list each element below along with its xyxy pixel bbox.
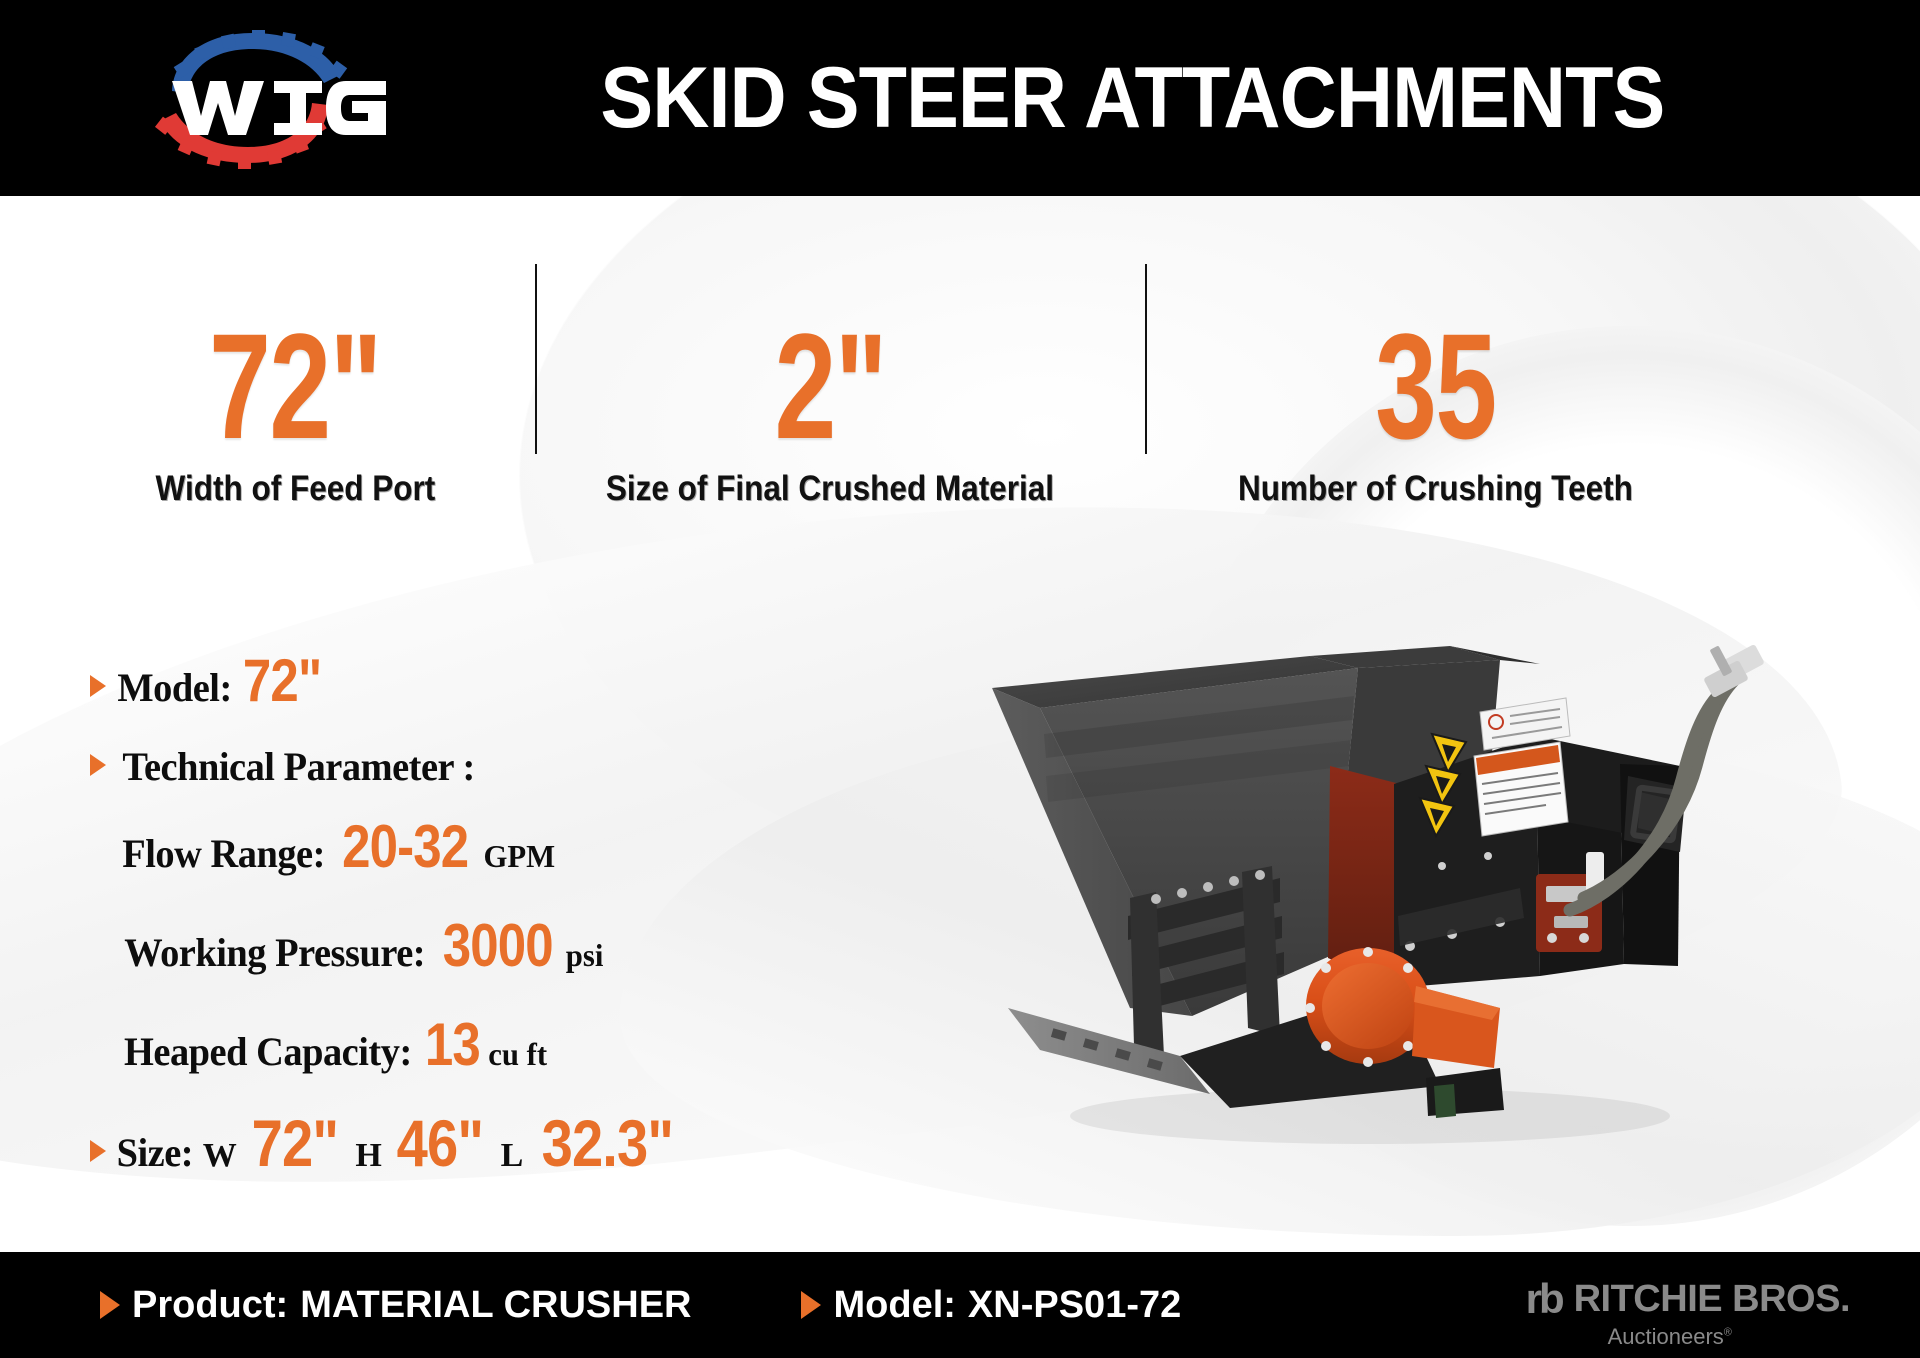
footer-model-label: Model: <box>833 1284 955 1327</box>
discharge-plate <box>1008 1008 1210 1094</box>
triangle-bullet-icon <box>90 1140 106 1162</box>
spec-value: 13 <box>423 1010 481 1079</box>
highlight-stats-row: 72" Width of Feed Port 2" Size of Final … <box>0 216 1920 506</box>
spec-value: 3000 <box>441 911 554 980</box>
spec-label: Working Pressure: <box>124 929 425 976</box>
spec-label: Size: <box>117 1129 194 1176</box>
spec-row-working-pressure: Working Pressure: 3000 psi <box>118 911 930 980</box>
page-title: SKID STEER ATTACHMENTS <box>461 55 1859 141</box>
rb-wordmark: RITCHIE BROS. <box>1574 1280 1850 1318</box>
triangle-bullet-icon <box>90 675 106 697</box>
wig-logo <box>100 13 400 183</box>
stat-width-of-feed-port: 72" Width of Feed Port <box>55 216 535 506</box>
spec-value: 72" <box>241 646 323 715</box>
spec-row-heaped-capacity: Heaped Capacity: 13 cu ft <box>118 1010 930 1079</box>
dim-value-w: 72" <box>250 1105 340 1181</box>
spec-row-model: Model: 72" <box>90 646 930 715</box>
stat-value: 2" <box>774 315 885 458</box>
footer-model-value: XN-PS01-72 <box>968 1284 1181 1327</box>
page-header: SKID STEER ATTACHMENTS <box>0 0 1920 196</box>
triangle-bullet-icon <box>90 754 106 776</box>
spec-list: Model: 72" Technical Parameter : Flow Ra… <box>90 646 930 1181</box>
spec-label: Heaped Capacity: <box>124 1028 412 1075</box>
ritchie-bros-logo: rb RITCHIE BROS. Auctioneers® <box>1526 1278 1850 1350</box>
dim-key-h: H <box>347 1137 386 1175</box>
page-body: 72" Width of Feed Port 2" Size of Final … <box>0 196 1920 1252</box>
dim-key-l: L <box>493 1137 529 1175</box>
spec-row-technical-parameter: Technical Parameter : <box>90 743 930 790</box>
footer-product-value: MATERIAL CRUSHER <box>300 1284 691 1327</box>
stat-size-of-final-crushed-material: 2" Size of Final Crushed Material <box>535 216 1125 506</box>
page-footer: Product: MATERIAL CRUSHER Model: XN-PS01… <box>0 1252 1920 1358</box>
stat-label: Number of Crushing Teeth <box>1238 471 1633 506</box>
stat-divider-1 <box>535 264 537 454</box>
rb-monogram: rb <box>1526 1278 1562 1320</box>
spec-label: Model: <box>117 664 231 711</box>
logo-wordmark <box>172 81 386 135</box>
footer-model: Model: XN-PS01-72 <box>801 1284 1181 1327</box>
rb-registered-icon: ® <box>1724 1327 1732 1339</box>
spec-label: Flow Range: <box>122 830 325 877</box>
triangle-bullet-icon <box>100 1291 120 1319</box>
spec-unit: GPM <box>483 838 555 875</box>
wig-logo-icon <box>100 13 400 183</box>
stat-number-of-crushing-teeth: 35 Number of Crushing Teeth <box>1125 216 1745 506</box>
footer-product: Product: MATERIAL CRUSHER <box>100 1284 691 1327</box>
material-crusher-illustration <box>980 616 1780 1176</box>
product-shadow <box>1070 1088 1670 1144</box>
stat-value: 35 <box>1375 315 1496 458</box>
footer-product-label: Product: <box>132 1284 288 1327</box>
spec-value: 20-32 <box>341 812 471 881</box>
rb-tagline-text: Auctioneers <box>1608 1324 1724 1349</box>
stat-value: 72" <box>209 315 381 458</box>
spec-unit: cu ft <box>488 1036 547 1073</box>
spec-label: Technical Parameter : <box>122 743 475 790</box>
stat-divider-2 <box>1145 264 1147 454</box>
spec-row-flow-range: Flow Range: 20-32 GPM <box>118 812 930 881</box>
dim-key-w: W <box>195 1137 242 1175</box>
spec-sheet-page: SKID STEER ATTACHMENTS 72" Width of Feed… <box>0 0 1920 1358</box>
spec-unit: psi <box>566 937 604 974</box>
support-legs <box>1426 1068 1504 1118</box>
product-image <box>980 616 1780 1176</box>
dim-value-l: 32.3" <box>540 1105 675 1181</box>
warning-decal <box>1474 742 1568 836</box>
stat-label: Width of Feed Port <box>155 471 435 506</box>
triangle-bullet-icon <box>801 1291 821 1319</box>
stat-label: Size of Final Crushed Material <box>606 471 1054 506</box>
hose-fittings <box>1703 644 1765 698</box>
rb-tagline: Auctioneers® <box>1608 1324 1732 1350</box>
dim-value-h: 46" <box>395 1105 485 1181</box>
spec-row-size: Size: W 72" H 46" L 32.3" <box>90 1105 930 1181</box>
